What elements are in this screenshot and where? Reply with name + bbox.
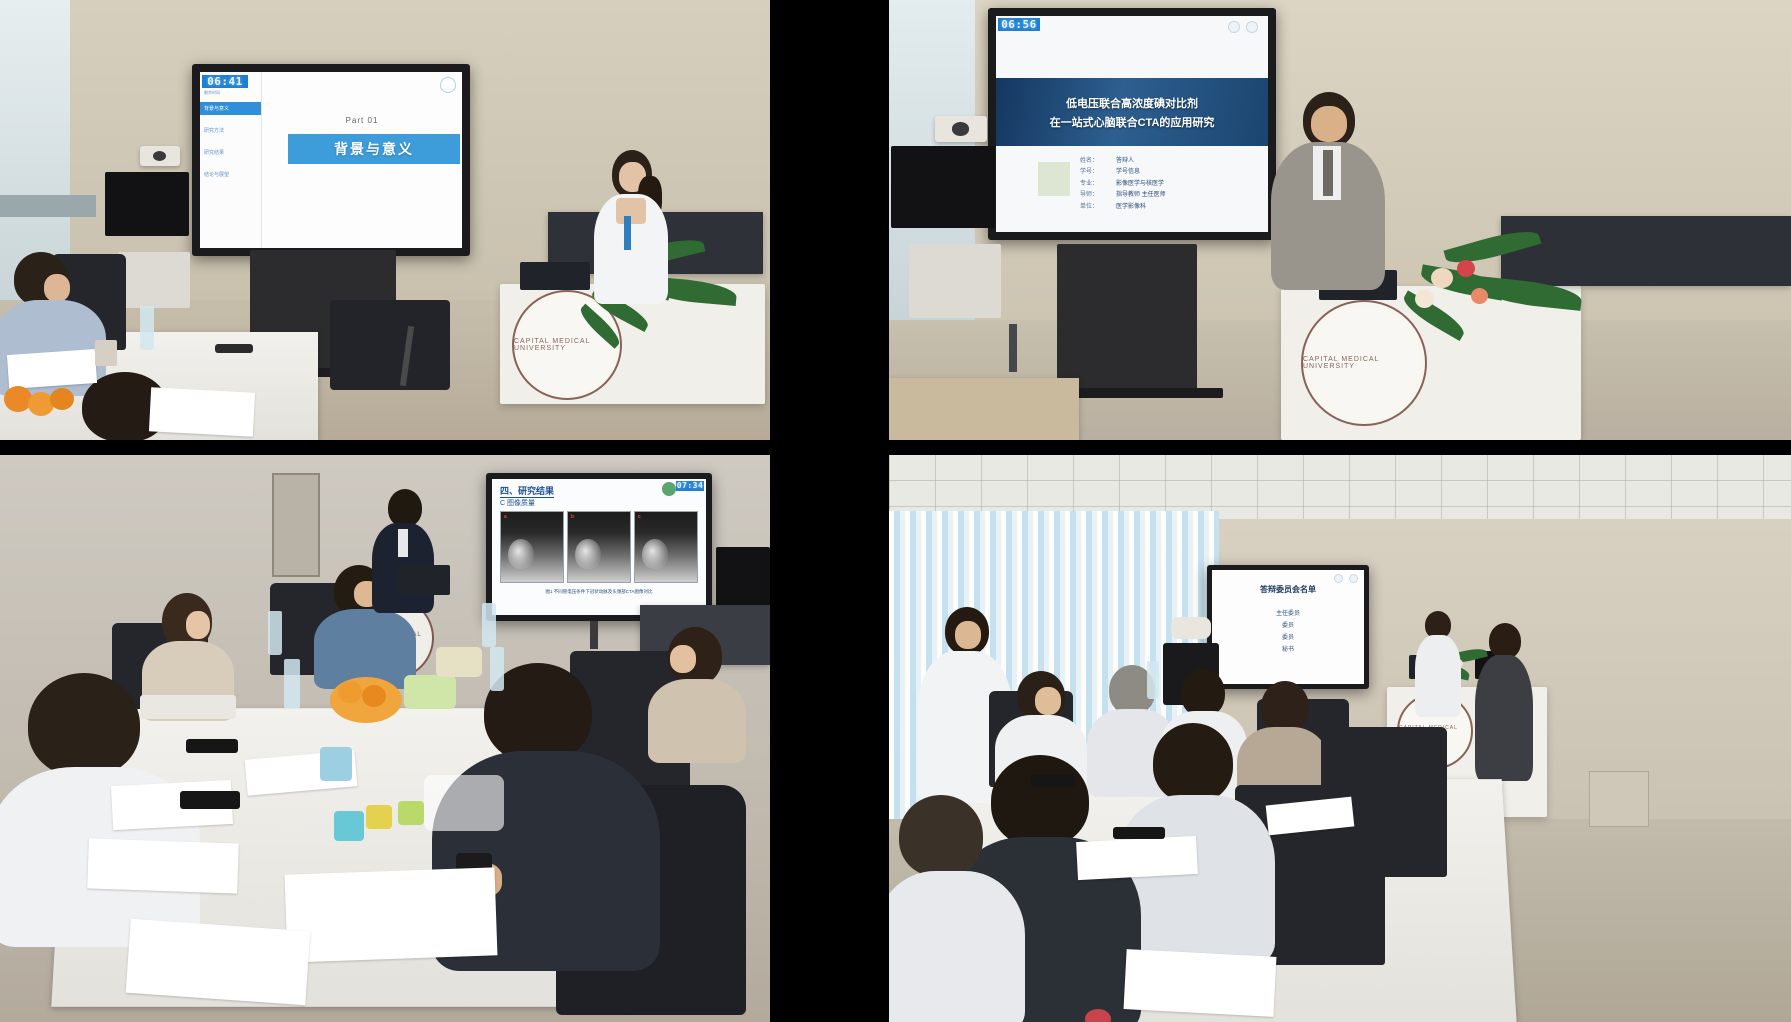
- results-subheading: C 图像质量: [500, 498, 535, 508]
- display-stand-2: [1057, 244, 1197, 392]
- wall-display-1[interactable]: 06:41 剩余时间 背景与意义 研究方法 研究结果 结论与展望 Part 01…: [192, 64, 470, 256]
- coffee-cup-1: [95, 340, 117, 366]
- slide-title-page: 06:56 低电压联合高浓度碘对比剂 在一站式心脑联合CTA的应用研究 姓名：: [996, 16, 1268, 232]
- presenter-standing-2: [1269, 92, 1387, 292]
- cup-3d: [398, 801, 424, 825]
- cup-3b: [334, 811, 364, 841]
- slide-committee-list: 答辩委员会名单 主任委员 委员 委员 秘书: [1212, 570, 1364, 684]
- orange-3: [50, 388, 74, 410]
- cup-3a: [320, 747, 352, 781]
- ct-image-a: a: [500, 511, 564, 583]
- display-screen-4: 答辩委员会名单 主任委员 委员 委员 秘书: [1212, 570, 1364, 684]
- handout-3b: [87, 838, 239, 893]
- handout-4a: [1076, 836, 1198, 880]
- committee-item-0: 主任委员: [1212, 608, 1364, 620]
- handout-3e: [126, 919, 311, 1005]
- meta-row-2: 专业： 影像医学与核医学: [1080, 179, 1166, 190]
- snack-tray-3a: [404, 675, 456, 709]
- sidebar-item-2[interactable]: 研究结果: [200, 146, 261, 159]
- display-screen-1: 06:41 剩余时间 背景与意义 研究方法 研究结果 结论与展望 Part 01…: [200, 72, 462, 248]
- side-monitor-2: [891, 146, 995, 228]
- ct-tag-c: c: [638, 514, 641, 520]
- room-scene-1: 06:41 剩余时间 背景与意义 研究方法 研究结果 结论与展望 Part 01…: [0, 0, 770, 440]
- radiator: [0, 195, 96, 217]
- front-table-2: [889, 378, 1079, 440]
- orange-3b: [362, 685, 386, 707]
- meta-row-1: 学号： 学号信息: [1080, 167, 1166, 178]
- side-monitor-1: [105, 172, 189, 236]
- meta-row-0: 姓名： 答辩人: [1080, 156, 1166, 167]
- projector-2: [935, 116, 987, 142]
- slide-crests-4: [1334, 574, 1358, 583]
- sidebar-item-1[interactable]: 研究方法: [200, 124, 261, 137]
- results-heading: 四、研究结果: [500, 484, 554, 498]
- water-bottle-1: [140, 306, 154, 350]
- slide-crests-2: [1228, 21, 1258, 33]
- projector-1: [140, 146, 180, 166]
- cup-3c: [366, 805, 392, 829]
- slide-title-line2: 在一站式心脑联合CTA的应用研究: [1050, 114, 1215, 130]
- ct-image-strip: a b c: [500, 511, 698, 583]
- meta-row-3: 导师： 指导教师 主任医师: [1080, 190, 1166, 201]
- cup-4a: [1085, 1009, 1111, 1022]
- web-camera-icon: [1171, 617, 1211, 639]
- committee-item-2: 委员: [1212, 632, 1364, 644]
- committee-item-3: 秘书: [1212, 644, 1364, 656]
- university-emblem-icon-d: [1349, 574, 1358, 583]
- snack-tray-3b: [436, 647, 482, 677]
- handout-2: [149, 387, 255, 436]
- results-caption: 图1 不同管电压条件下冠状动脉及头颈部CTA图像对比: [492, 589, 706, 595]
- university-emblem-icon-a: [1228, 21, 1240, 33]
- slide-section-divider: 06:41 剩余时间 背景与意义 研究方法 研究结果 结论与展望 Part 01…: [200, 72, 462, 248]
- standing-woman-4b: [1475, 623, 1533, 783]
- display-screen-2: 06:56 低电压联合高浓度碘对比剂 在一站式心脑联合CTA的应用研究 姓名：: [996, 16, 1268, 232]
- water-bottle-3d: [490, 647, 504, 691]
- notepad-3: [140, 695, 236, 719]
- committee-heading: 答辩委员会名单: [1212, 584, 1364, 595]
- ct-tag-b: b: [571, 514, 574, 520]
- cable-2: [1009, 324, 1017, 372]
- water-bottle-3c: [284, 659, 300, 709]
- university-emblem-icon: [440, 77, 456, 93]
- slide-title-banner: 低电压联合高浓度碘对比剂 在一站式心脑联合CTA的应用研究: [996, 78, 1268, 146]
- wall-display-2-frame[interactable]: 06:56 低电压联合高浓度碘对比剂 在一站式心脑联合CTA的应用研究 姓名：: [988, 8, 1276, 240]
- wall-panel-3: [272, 473, 320, 577]
- floor-cabinet-4: [1589, 771, 1649, 827]
- handout-1: [7, 349, 97, 389]
- panel-top-left: 06:41 剩余时间 背景与意义 研究方法 研究结果 结论与展望 Part 01…: [0, 0, 770, 440]
- display-screen-3: 四、研究结果 C 图像质量 07:34 a b c: [492, 479, 706, 615]
- countdown-timer-2: 06:56: [998, 18, 1040, 31]
- remote-control-1[interactable]: [215, 344, 253, 353]
- slide-sidebar: 06:41 剩余时间 背景与意义 研究方法 研究结果 结论与展望: [200, 72, 262, 248]
- handout-3d: [285, 867, 498, 962]
- ct-image-b: b: [567, 511, 631, 583]
- flower-arrangement-2: [1389, 246, 1609, 356]
- university-emblem-icon-b: [1246, 21, 1258, 33]
- sidebar-item-3[interactable]: 结论与展望: [200, 168, 261, 181]
- orange-3a: [338, 681, 362, 703]
- panel-top-right: 06:56 低电压联合高浓度碘对比剂 在一站式心脑联合CTA的应用研究 姓名：: [889, 0, 1791, 440]
- mobile-phone-3a[interactable]: [186, 739, 238, 753]
- attendee-4g: [889, 795, 1009, 1022]
- photo-collage: 06:41 剩余时间 背景与意义 研究方法 研究结果 结论与展望 Part 01…: [0, 0, 1791, 1022]
- water-bottle-4a: [1147, 661, 1159, 699]
- committee-item-1: 委员: [1212, 620, 1364, 632]
- presenter-standing-1: [586, 150, 676, 310]
- water-bottle-3a: [268, 611, 282, 655]
- ct-tag-a: a: [504, 514, 507, 520]
- slide-kicker: Part 01: [262, 116, 462, 125]
- timer-sublabel: 剩余时间: [204, 90, 220, 96]
- mobile-phone-4a[interactable]: [1031, 775, 1075, 787]
- slide-photo-placeholder: [1038, 162, 1070, 196]
- panel-bottom-left: 四、研究结果 C 图像质量 07:34 a b c: [0, 455, 770, 1022]
- mobile-phone-3b[interactable]: [180, 791, 240, 809]
- tray-3c: [424, 775, 504, 831]
- sidebar-item-0[interactable]: 背景与意义: [200, 102, 261, 115]
- panel-bottom-right: 答辩委员会名单 主任委员 委员 委员 秘书: [889, 455, 1791, 1022]
- countdown-timer: 06:41: [202, 75, 248, 88]
- hospital-logo-icon: [662, 482, 676, 496]
- ct-image-c: c: [634, 511, 698, 583]
- room-scene-2: 06:56 低电压联合高浓度碘对比剂 在一站式心脑联合CTA的应用研究 姓名：: [889, 0, 1791, 440]
- slide-meta-block: 姓名： 答辩人 学号： 学号信息 专业： 影像医学与核医学: [1080, 156, 1166, 213]
- standing-woman-4a: [1413, 611, 1461, 719]
- wall-display-3[interactable]: 四、研究结果 C 图像质量 07:34 a b c: [486, 473, 712, 621]
- room-scene-4: 答辩委员会名单 主任委员 委员 委员 秘书: [889, 455, 1791, 1022]
- slide-results: 四、研究结果 C 图像质量 07:34 a b c: [492, 479, 706, 615]
- room-scene-3: 四、研究结果 C 图像质量 07:34 a b c: [0, 455, 770, 1022]
- display-neck-3: [590, 621, 598, 649]
- countdown-timer-3: 07:34: [676, 481, 704, 491]
- laptop-3a[interactable]: [398, 565, 450, 595]
- attendee-3-right-woman: [648, 627, 746, 757]
- water-bottle-3b: [482, 603, 496, 647]
- chair-2: [330, 300, 450, 390]
- handout-4b: [1124, 949, 1277, 1017]
- university-emblem-icon-c: [1334, 574, 1343, 583]
- meta-row-4: 单位： 医学影像科: [1080, 202, 1166, 213]
- slide-title-line1: 低电压联合高浓度碘对比剂: [1066, 95, 1198, 111]
- slide-band-title: 背景与意义: [288, 134, 460, 164]
- equipment-cart-1: [118, 252, 190, 308]
- remote-control-4[interactable]: [1113, 827, 1165, 839]
- equipment-cart-2: [909, 244, 1001, 318]
